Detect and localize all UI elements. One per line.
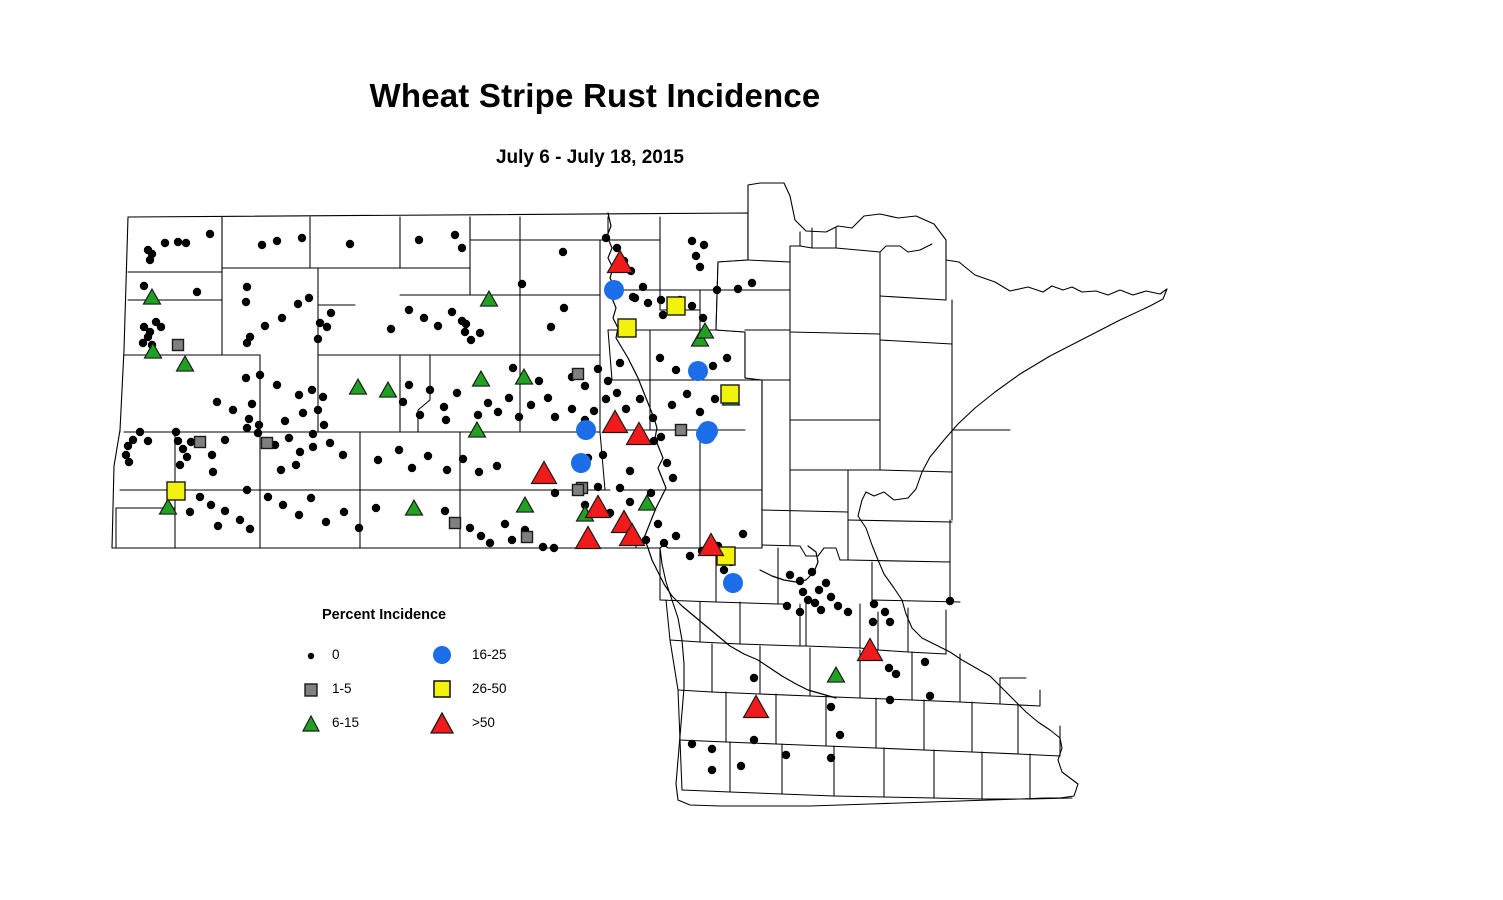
incidence-marker xyxy=(708,766,716,774)
incidence-marker xyxy=(688,302,696,310)
square-icon xyxy=(430,676,456,702)
incidence-marker xyxy=(254,429,262,437)
map-svg xyxy=(0,0,1503,900)
incidence-marker xyxy=(616,484,624,492)
incidence-marker xyxy=(264,493,272,501)
incidence-marker xyxy=(486,539,494,547)
incidence-marker xyxy=(355,524,363,532)
incidence-marker xyxy=(708,745,716,753)
incidence-marker xyxy=(314,335,322,343)
incidence-marker xyxy=(590,407,598,415)
incidence-marker xyxy=(296,448,304,456)
incidence-marker xyxy=(505,394,513,402)
incidence-marker xyxy=(493,462,501,470)
incidence-marker xyxy=(327,309,335,317)
incidence-marker xyxy=(613,389,621,397)
incidence-marker xyxy=(786,571,794,579)
incidence-marker xyxy=(815,586,823,594)
incidence-marker xyxy=(550,544,558,552)
incidence-marker xyxy=(461,328,469,336)
incidence-marker xyxy=(672,532,680,540)
incidence-marker xyxy=(796,608,804,616)
incidence-marker xyxy=(466,524,474,532)
incidence-marker xyxy=(551,413,559,421)
incidence-marker xyxy=(157,323,165,331)
incidence-marker xyxy=(720,566,728,574)
incidence-marker xyxy=(639,283,647,291)
incidence-marker xyxy=(535,377,543,385)
incidence-marker xyxy=(453,389,461,397)
incidence-marker xyxy=(581,382,589,390)
incidence-marker xyxy=(183,453,191,461)
incidence-marker xyxy=(140,282,148,290)
incidence-marker xyxy=(796,577,804,585)
incidence-marker xyxy=(176,461,184,469)
incidence-marker xyxy=(278,314,286,322)
incidence-marker xyxy=(636,395,644,403)
incidence-marker xyxy=(285,434,293,442)
incidence-marker xyxy=(644,299,652,307)
legend-label-5: >50 xyxy=(472,715,495,730)
incidence-marker xyxy=(467,336,475,344)
incidence-marker xyxy=(124,442,132,450)
incidence-marker xyxy=(602,234,610,242)
incidence-marker xyxy=(273,237,281,245)
incidence-marker xyxy=(477,532,485,540)
incidence-marker xyxy=(144,437,152,445)
incidence-marker xyxy=(522,532,533,543)
incidence-marker xyxy=(475,468,483,476)
incidence-marker xyxy=(295,391,303,399)
incidence-marker xyxy=(618,319,636,337)
incidence-marker xyxy=(246,525,254,533)
incidence-marker xyxy=(885,664,893,672)
incidence-marker xyxy=(174,437,182,445)
incidence-marker xyxy=(441,507,449,515)
incidence-marker xyxy=(387,325,395,333)
triangle-icon xyxy=(300,710,326,736)
incidence-marker xyxy=(547,323,555,331)
incidence-marker xyxy=(734,285,742,293)
incidence-marker xyxy=(657,296,665,304)
incidence-marker xyxy=(539,543,547,551)
incidence-marker xyxy=(339,451,347,459)
incidence-marker xyxy=(699,314,707,322)
incidence-marker xyxy=(243,424,251,432)
incidence-marker xyxy=(442,416,450,424)
incidence-marker xyxy=(256,371,264,379)
incidence-marker xyxy=(139,339,147,347)
incidence-marker xyxy=(568,405,576,413)
incidence-marker xyxy=(509,364,517,372)
incidence-marker xyxy=(372,504,380,512)
incidence-marker xyxy=(576,420,596,440)
incidence-marker xyxy=(206,230,214,238)
incidence-marker xyxy=(484,399,492,407)
incidence-marker xyxy=(527,401,535,409)
incidence-marker xyxy=(688,740,696,748)
incidence-marker xyxy=(604,280,624,300)
incidence-marker xyxy=(245,415,253,423)
incidence-marker xyxy=(629,293,637,301)
incidence-marker xyxy=(305,294,313,302)
incidence-marker xyxy=(221,436,229,444)
incidence-marker xyxy=(892,670,900,678)
map-container xyxy=(0,0,1503,900)
incidence-marker xyxy=(174,238,182,246)
incidence-marker xyxy=(243,486,251,494)
incidence-marker xyxy=(822,579,830,587)
incidence-marker xyxy=(688,237,696,245)
incidence-marker xyxy=(844,608,852,616)
legend-label-2: 6-15 xyxy=(332,715,359,730)
incidence-marker xyxy=(243,283,251,291)
incidence-marker xyxy=(424,452,432,460)
incidence-marker xyxy=(551,489,559,497)
incidence-marker xyxy=(544,394,552,402)
incidence-marker xyxy=(696,263,704,271)
incidence-marker xyxy=(213,398,221,406)
incidence-marker xyxy=(660,539,668,547)
incidence-marker xyxy=(309,443,317,451)
incidence-marker xyxy=(161,239,169,247)
incidence-marker xyxy=(783,602,791,610)
incidence-marker xyxy=(663,459,671,467)
incidence-marker xyxy=(709,362,717,370)
incidence-marker xyxy=(799,588,807,596)
incidence-marker xyxy=(415,236,423,244)
incidence-marker xyxy=(295,511,303,519)
incidence-marker xyxy=(258,241,266,249)
incidence-marker xyxy=(209,468,217,476)
incidence-marker xyxy=(494,408,502,416)
incidence-marker xyxy=(273,381,281,389)
incidence-marker xyxy=(616,359,624,367)
incidence-marker xyxy=(870,600,878,608)
incidence-marker xyxy=(173,340,184,351)
incidence-marker xyxy=(146,256,154,264)
triangle-icon xyxy=(430,710,456,736)
incidence-marker xyxy=(698,421,718,441)
incidence-marker xyxy=(326,439,334,447)
incidence-marker xyxy=(279,501,287,509)
incidence-marker xyxy=(654,520,662,528)
legend-label-3: 16-25 xyxy=(472,647,507,662)
incidence-marker xyxy=(827,754,835,762)
incidence-marker xyxy=(196,493,204,501)
incidence-marker xyxy=(277,466,285,474)
incidence-marker xyxy=(281,417,289,425)
incidence-marker xyxy=(459,455,467,463)
incidence-marker xyxy=(426,386,434,394)
incidence-marker xyxy=(626,467,634,475)
legend-label-0: 0 xyxy=(332,647,340,662)
incidence-marker xyxy=(140,323,148,331)
incidence-marker xyxy=(229,406,237,414)
incidence-marker xyxy=(559,248,567,256)
incidence-marker xyxy=(292,461,300,469)
incidence-marker xyxy=(236,516,244,524)
legend-label-4: 26-50 xyxy=(472,681,507,696)
incidence-marker xyxy=(221,507,229,515)
incidence-marker xyxy=(926,692,934,700)
incidence-marker xyxy=(322,518,330,526)
incidence-marker xyxy=(186,508,194,516)
incidence-marker xyxy=(508,536,516,544)
incidence-marker xyxy=(668,401,676,409)
incidence-marker xyxy=(172,428,180,436)
incidence-marker xyxy=(307,494,315,502)
incidence-marker xyxy=(434,322,442,330)
incidence-marker xyxy=(804,596,812,604)
incidence-marker xyxy=(739,530,747,538)
incidence-marker xyxy=(440,403,448,411)
incidence-marker xyxy=(195,437,206,448)
incidence-marker xyxy=(476,329,484,337)
incidence-marker xyxy=(676,425,687,436)
incidence-marker xyxy=(834,602,842,610)
map-page: Wheat Stripe Rust Incidence July 6 - Jul… xyxy=(0,0,1503,900)
incidence-marker xyxy=(622,405,630,413)
incidence-marker xyxy=(193,288,201,296)
incidence-marker xyxy=(672,366,680,374)
incidence-marker xyxy=(688,361,708,381)
square-icon xyxy=(300,676,326,702)
incidence-marker xyxy=(594,483,602,491)
legend-label-1: 1-5 xyxy=(332,681,352,696)
incidence-marker xyxy=(869,618,877,626)
incidence-marker xyxy=(836,731,844,739)
incidence-marker xyxy=(649,414,657,422)
legend-title: Percent Incidence xyxy=(322,607,446,623)
incidence-marker xyxy=(416,411,424,419)
incidence-marker xyxy=(573,369,584,380)
incidence-marker xyxy=(346,240,354,248)
incidence-marker xyxy=(448,308,456,316)
incidence-marker xyxy=(207,501,215,509)
incidence-marker xyxy=(808,568,816,576)
incidence-marker xyxy=(817,606,825,614)
incidence-marker xyxy=(657,433,665,441)
circle-icon xyxy=(430,642,456,668)
incidence-marker xyxy=(340,508,348,516)
incidence-marker xyxy=(886,618,894,626)
incidence-marker xyxy=(242,374,250,382)
incidence-marker xyxy=(721,385,739,403)
incidence-marker xyxy=(946,597,954,605)
incidence-marker xyxy=(167,482,185,500)
incidence-marker xyxy=(750,674,758,682)
incidence-marker xyxy=(243,339,251,347)
incidence-marker xyxy=(408,464,416,472)
incidence-marker xyxy=(686,552,694,560)
incidence-marker xyxy=(518,280,526,288)
incidence-marker xyxy=(750,736,758,744)
incidence-marker xyxy=(626,498,634,506)
incidence-marker xyxy=(748,279,756,287)
incidence-marker xyxy=(827,593,835,601)
incidence-marker xyxy=(571,453,591,473)
incidence-marker xyxy=(692,252,700,260)
incidence-marker xyxy=(308,386,316,394)
incidence-marker xyxy=(599,451,607,459)
incidence-marker xyxy=(323,323,331,331)
incidence-marker xyxy=(309,430,317,438)
legend: Percent Incidence 0 1-5 6-15 xyxy=(300,600,560,740)
incidence-marker xyxy=(782,751,790,759)
incidence-marker xyxy=(242,298,250,306)
incidence-marker xyxy=(314,406,322,414)
incidence-marker xyxy=(182,239,190,247)
incidence-marker xyxy=(881,608,889,616)
incidence-marker xyxy=(405,381,413,389)
incidence-marker xyxy=(294,300,302,308)
incidence-marker xyxy=(255,421,263,429)
incidence-marker xyxy=(262,438,273,449)
incidence-marker xyxy=(886,696,894,704)
incidence-marker xyxy=(474,411,482,419)
incidence-marker xyxy=(319,393,327,401)
incidence-marker xyxy=(669,474,677,482)
incidence-marker xyxy=(458,244,466,252)
incidence-marker xyxy=(299,409,307,417)
incidence-marker xyxy=(659,311,667,319)
incidence-marker xyxy=(136,428,144,436)
incidence-marker xyxy=(443,466,451,474)
incidence-marker xyxy=(683,390,691,398)
incidence-marker xyxy=(604,377,612,385)
incidence-marker xyxy=(179,445,187,453)
incidence-marker xyxy=(405,306,413,314)
incidence-marker xyxy=(711,395,719,403)
incidence-marker xyxy=(420,314,428,322)
incidence-marker xyxy=(450,518,461,529)
incidence-marker xyxy=(374,456,382,464)
incidence-marker xyxy=(560,304,568,312)
incidence-marker xyxy=(723,354,731,362)
incidence-marker xyxy=(208,451,216,459)
incidence-marker xyxy=(667,297,685,315)
dot-icon xyxy=(300,642,326,668)
incidence-marker xyxy=(515,413,523,421)
incidence-marker xyxy=(696,408,704,416)
incidence-marker xyxy=(399,398,407,406)
incidence-marker xyxy=(737,762,745,770)
incidence-marker xyxy=(602,395,610,403)
incidence-marker xyxy=(656,354,664,362)
incidence-marker xyxy=(451,231,459,239)
incidence-marker xyxy=(125,458,133,466)
incidence-marker xyxy=(462,320,470,328)
incidence-marker xyxy=(594,365,602,373)
incidence-marker xyxy=(700,241,708,249)
incidence-marker xyxy=(827,703,835,711)
incidence-marker xyxy=(261,322,269,330)
incidence-marker xyxy=(248,400,256,408)
incidence-marker xyxy=(501,520,509,528)
incidence-marker xyxy=(214,522,222,530)
incidence-marker xyxy=(320,421,328,429)
incidence-marker xyxy=(395,446,403,454)
incidence-marker xyxy=(921,658,929,666)
incidence-marker xyxy=(298,234,306,242)
incidence-marker xyxy=(713,286,721,294)
incidence-marker xyxy=(573,485,584,496)
incidence-marker xyxy=(723,573,743,593)
